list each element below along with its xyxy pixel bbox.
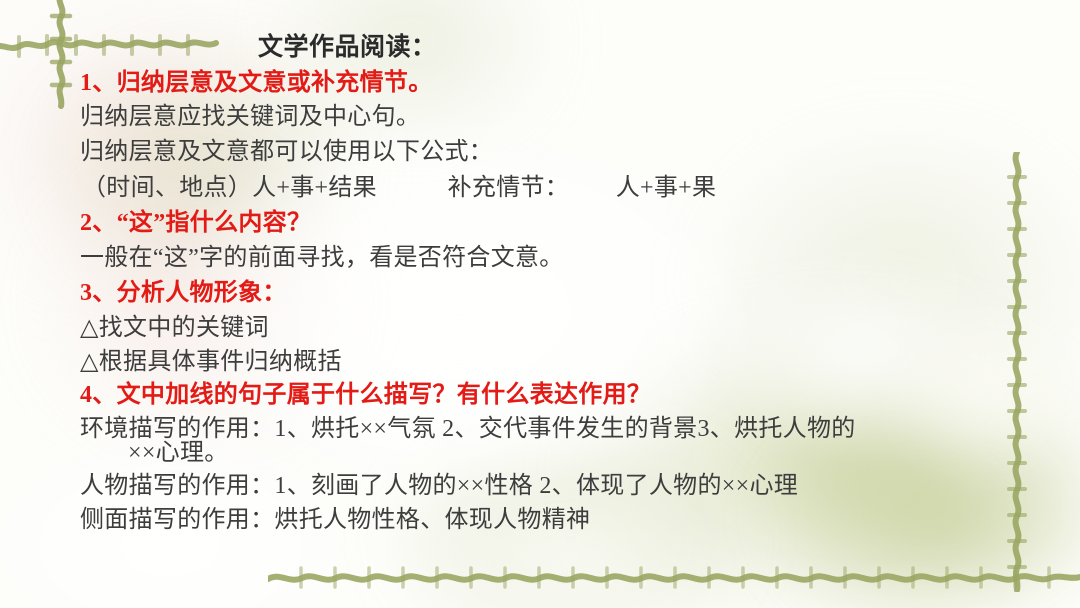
formula-label: 补充情节： bbox=[448, 175, 570, 201]
heading-item-3: 3、分析人物形象： bbox=[80, 272, 287, 307]
formula-left: （时间、地点）人+事+结果 bbox=[82, 175, 377, 201]
body-line-1-2: 归纳层意及文意都可以使用以下公式： bbox=[80, 131, 493, 166]
slide-canvas: 文学作品阅读： 1、归纳层意及文意或补充情节。 归纳层意应找关键词及中心句。 归… bbox=[0, 0, 1080, 608]
body-line-4-2: 人物描写的作用：1、刻画了人物的××性格 2、体现了人物的××心理 bbox=[80, 465, 798, 500]
heading-item-1: 1、归纳层意及文意或补充情节。 bbox=[80, 62, 433, 97]
slide-text-content: 文学作品阅读： 1、归纳层意及文意或补充情节。 归纳层意应找关键词及中心句。 归… bbox=[0, 0, 1080, 608]
body-line-1-1: 归纳层意应找关键词及中心句。 bbox=[80, 96, 420, 131]
heading-item-4: 4、文中加线的句子属于什么描写？有什么表达作用？ bbox=[80, 374, 651, 409]
body-line-formula-row: （时间、地点）人+事+结果 补充情节： 人+事+果 bbox=[82, 167, 716, 202]
page-title: 文学作品阅读： bbox=[258, 27, 437, 63]
heading-item-2: 2、“这”指什么内容？ bbox=[80, 202, 311, 237]
body-line-3-1: △找文中的关键词 bbox=[80, 307, 269, 342]
body-line-4-3: 侧面描写的作用：烘托人物性格、体现人物精神 bbox=[80, 499, 590, 534]
body-line-4-1-cont: ××心理。 bbox=[128, 432, 229, 467]
body-line-2-1: 一般在“这”字的前面寻找，看是否符合文意。 bbox=[80, 237, 564, 272]
body-line-3-2: △根据具体事件归纳概括 bbox=[80, 341, 342, 376]
formula-right: 人+事+果 bbox=[616, 175, 717, 201]
